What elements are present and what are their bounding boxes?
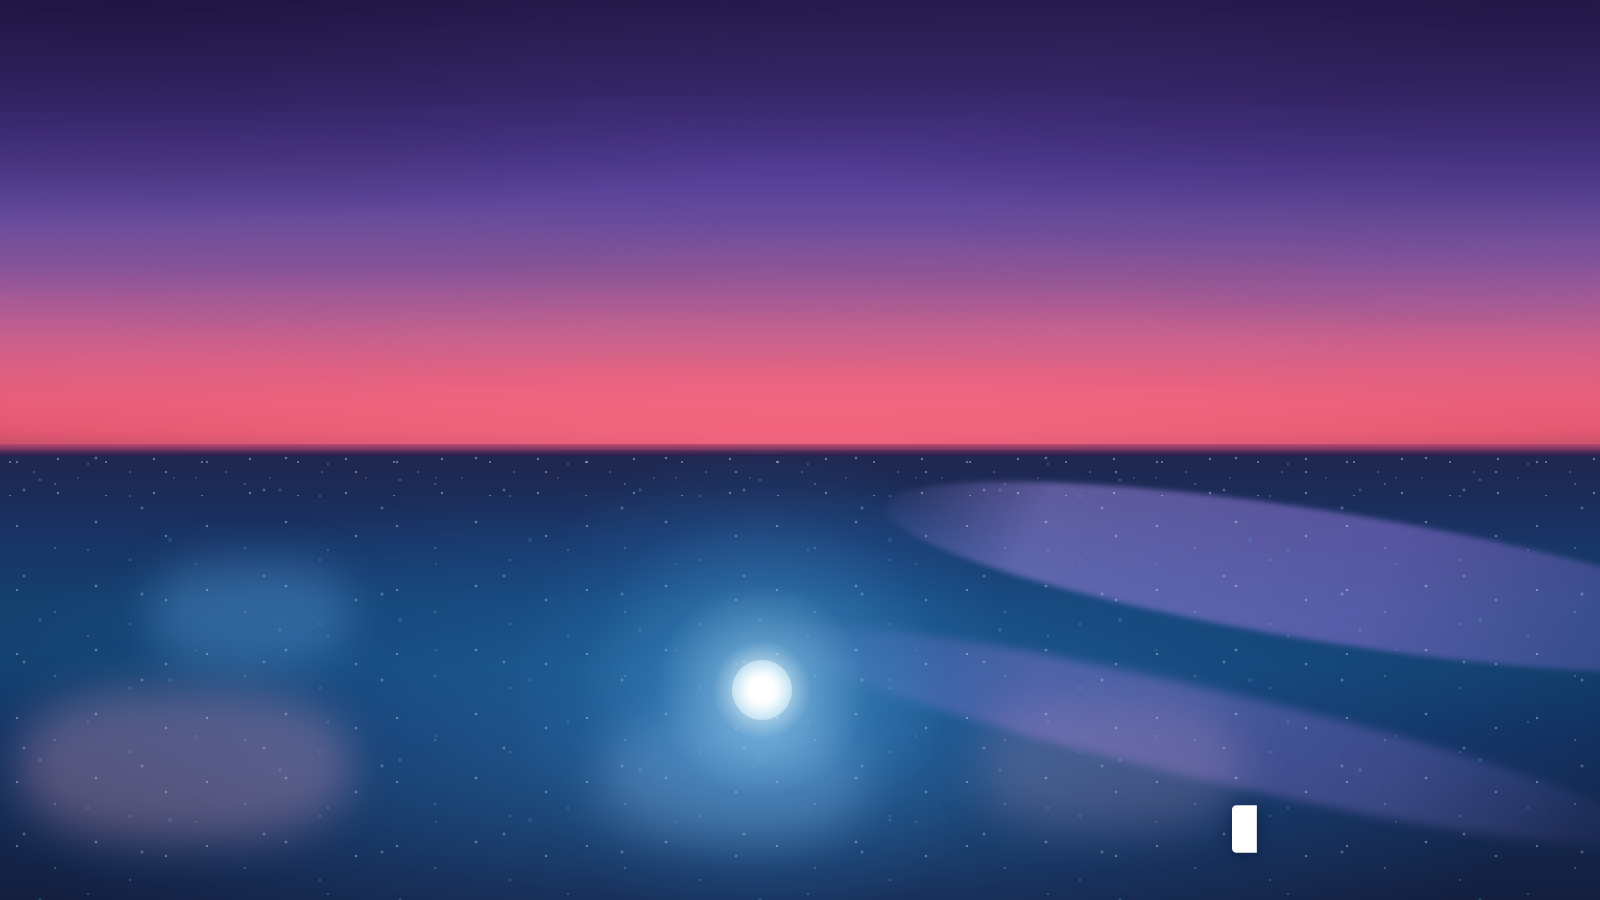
horizon-glow [0, 352, 1600, 452]
flowfuse-logo[interactable] [1232, 802, 1302, 856]
blog-hero-banner [0, 0, 1600, 900]
flowfuse-logo-mark-icon [1232, 802, 1286, 856]
